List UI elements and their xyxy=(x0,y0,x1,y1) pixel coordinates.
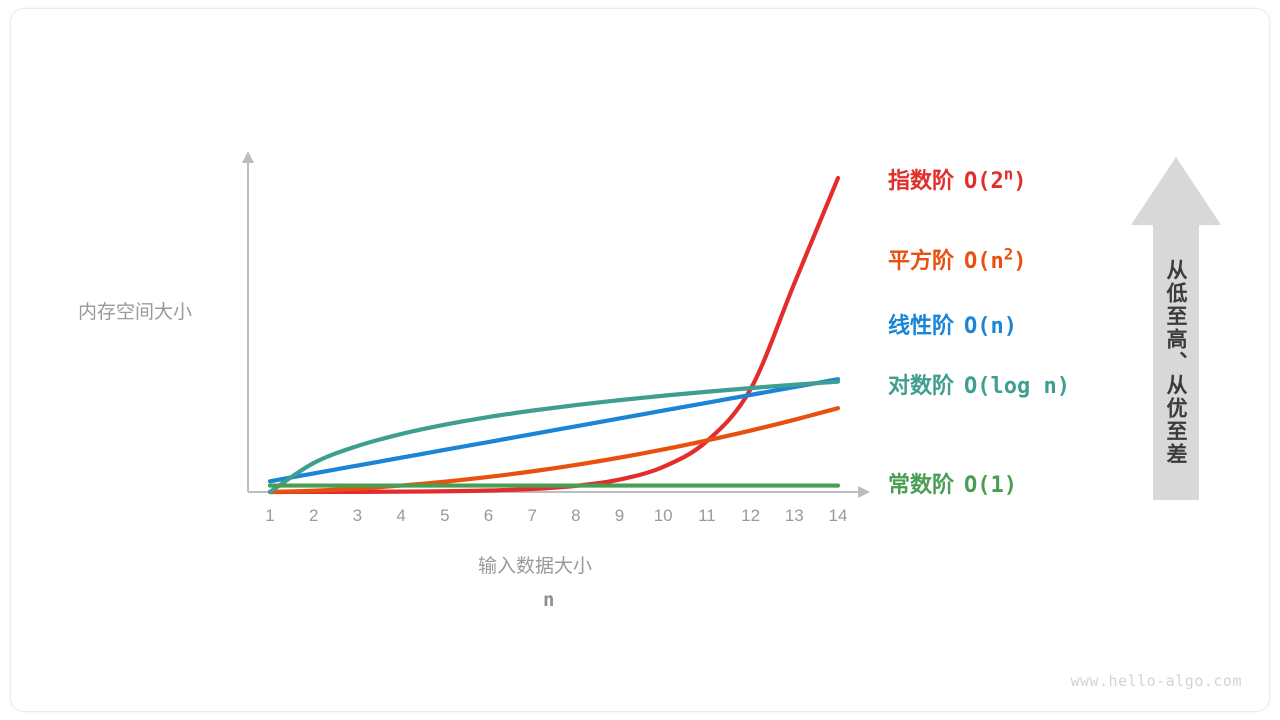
legend-notation-linear: O(n) xyxy=(964,314,1017,339)
arrow-caption: 从低至高、从优至差 xyxy=(1145,230,1205,495)
chart-page: 1234567891011121314 内存空间大小 输入数据大小 n 指数阶O… xyxy=(0,0,1280,720)
chart-plot-area xyxy=(0,0,1280,720)
legend-label-quadratic: 平方阶 xyxy=(888,248,954,273)
legend-notation-sup: n xyxy=(1004,165,1014,184)
legend-notation-post: ) xyxy=(1013,169,1026,194)
x-tick-label: 9 xyxy=(615,506,624,526)
legend-item-linear: 线性阶O(n) xyxy=(888,308,1017,340)
x-tick-label: 6 xyxy=(484,506,493,526)
x-tick-label: 11 xyxy=(698,506,716,526)
x-tick-label: 4 xyxy=(396,506,405,526)
legend-notation-post: ) xyxy=(1013,249,1026,274)
legend-notation-pre: O(2 xyxy=(964,169,1004,194)
x-tick-label: 14 xyxy=(829,506,848,526)
x-tick-label: 2 xyxy=(309,506,318,526)
legend-notation-logarithmic: O(log n) xyxy=(964,374,1070,399)
series-line-quadratic xyxy=(270,408,838,492)
x-axis-variable: n xyxy=(543,589,554,611)
x-tick-label: 5 xyxy=(440,506,449,526)
x-tick-label: 8 xyxy=(571,506,580,526)
legend-label-exponential: 指数阶 xyxy=(888,168,954,193)
x-tick-label: 3 xyxy=(353,506,362,526)
x-axis-title: 输入数据大小 xyxy=(478,551,592,578)
legend-label-logarithmic: 对数阶 xyxy=(888,373,954,398)
legend-item-logarithmic: 对数阶O(log n) xyxy=(888,368,1070,400)
legend-item-constant: 常数阶O(1) xyxy=(888,467,1017,499)
series-line-logarithmic xyxy=(270,382,838,492)
legend-notation-sup: 2 xyxy=(1004,245,1014,264)
x-tick-label: 13 xyxy=(785,506,804,526)
watermark-text: www.hello-algo.com xyxy=(1070,672,1242,690)
x-tick-label: 1 xyxy=(265,506,274,526)
legend-label-linear: 线性阶 xyxy=(888,313,954,338)
x-tick-label: 7 xyxy=(527,506,536,526)
legend-notation-quadratic: O(n2) xyxy=(964,249,1027,274)
series-layer xyxy=(270,178,838,492)
y-axis-title: 内存空间大小 xyxy=(78,297,192,324)
x-tick-label: 12 xyxy=(741,506,760,526)
legend-notation-exponential: O(2n) xyxy=(964,169,1027,194)
legend-notation-constant: O(1) xyxy=(964,473,1017,498)
legend-item-exponential: 指数阶O(2n) xyxy=(888,163,1027,195)
legend-label-constant: 常数阶 xyxy=(888,472,954,497)
legend-item-quadratic: 平方阶O(n2) xyxy=(888,243,1027,275)
legend-notation-pre: O(n xyxy=(964,249,1004,274)
x-tick-label: 10 xyxy=(654,506,673,526)
